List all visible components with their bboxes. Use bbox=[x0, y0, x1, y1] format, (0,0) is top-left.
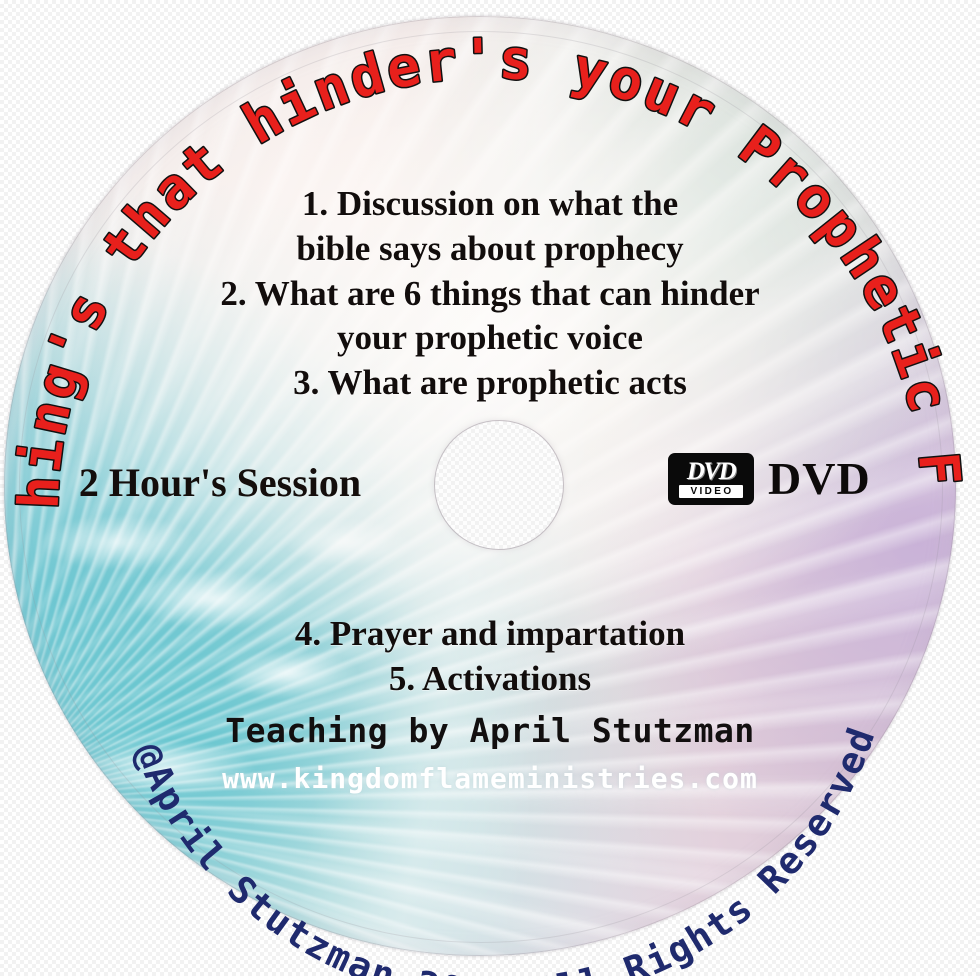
dvd-badge-group: DVD VIDEO DVD bbox=[668, 452, 871, 505]
topic-line: your prophetic voice bbox=[90, 316, 890, 361]
topic-list-top: 1. Discussion on what the bible says abo… bbox=[90, 182, 890, 406]
session-duration: 2 Hour's Session bbox=[30, 459, 410, 506]
teacher-credit: Teaching by April Stutzman bbox=[140, 711, 840, 750]
topic-line: 5. Activations bbox=[90, 657, 890, 702]
topic-line: 3. What are prophetic acts bbox=[90, 361, 890, 406]
topic-line: 2. What are 6 things that can hinder bbox=[90, 272, 890, 317]
dvd-video-logo-icon: DVD VIDEO bbox=[668, 453, 754, 505]
dvd-format-label: DVD bbox=[768, 452, 871, 505]
topic-line: 4. Prayer and impartation bbox=[90, 612, 890, 657]
topic-list-bottom: 4. Prayer and impartation 5. Activations bbox=[90, 612, 890, 702]
dvd-logo-subword: VIDEO bbox=[679, 485, 742, 498]
dvd-logo-word: DVD bbox=[687, 460, 735, 483]
disc-center-hole bbox=[435, 421, 563, 549]
website-url: www.kingdomflameministries.com bbox=[140, 762, 840, 795]
topic-line: bible says about prophecy bbox=[90, 227, 890, 272]
topic-line: 1. Discussion on what the bbox=[90, 182, 890, 227]
